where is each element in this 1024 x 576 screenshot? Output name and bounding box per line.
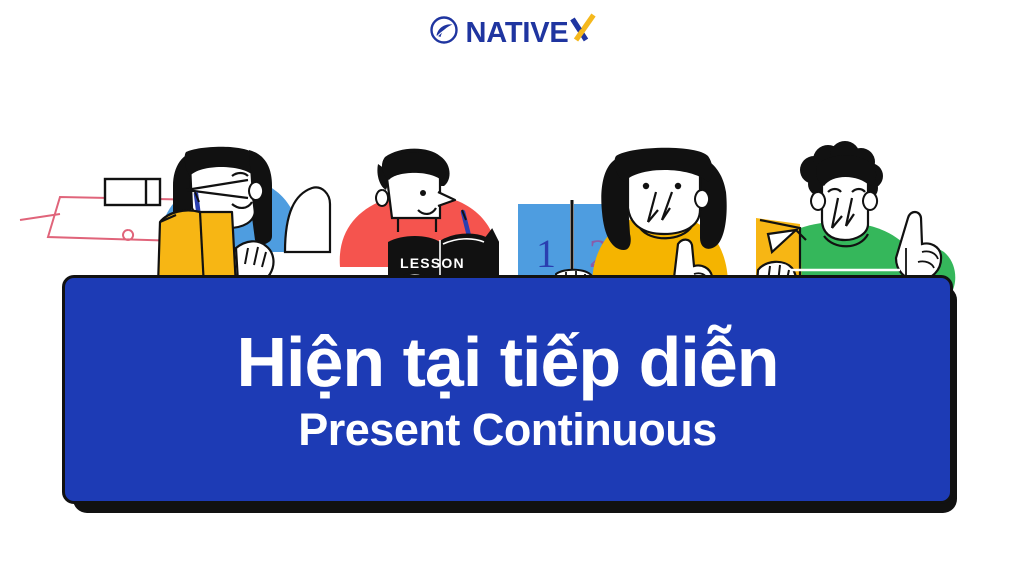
student-two: LESSON bbox=[340, 149, 498, 292]
students-illustration: LESSON 1 2 bbox=[0, 52, 1024, 292]
number-block-one-label: 1 bbox=[536, 231, 556, 276]
title-banner: Hiện tại tiếp diễn Present Continuous bbox=[62, 275, 953, 504]
lesson-book-label: LESSON bbox=[400, 255, 465, 271]
brand-wordmark: NATIVE bbox=[466, 12, 596, 48]
eraser-block bbox=[105, 179, 160, 205]
student-three bbox=[592, 148, 728, 292]
brand-logo[interactable]: NATIVE bbox=[0, 9, 1024, 51]
brand-name-primary: NATIVE bbox=[466, 19, 569, 48]
student-one bbox=[158, 147, 330, 287]
page-title-vietnamese: Hiện tại tiếp diễn bbox=[236, 325, 778, 399]
slide-canvas: NATIVE bbox=[0, 0, 1024, 576]
page-subtitle-english: Present Continuous bbox=[298, 405, 717, 455]
student-four bbox=[756, 141, 956, 292]
brand-letter-x bbox=[570, 12, 596, 42]
nativex-circle-swoosh-icon bbox=[429, 15, 459, 45]
